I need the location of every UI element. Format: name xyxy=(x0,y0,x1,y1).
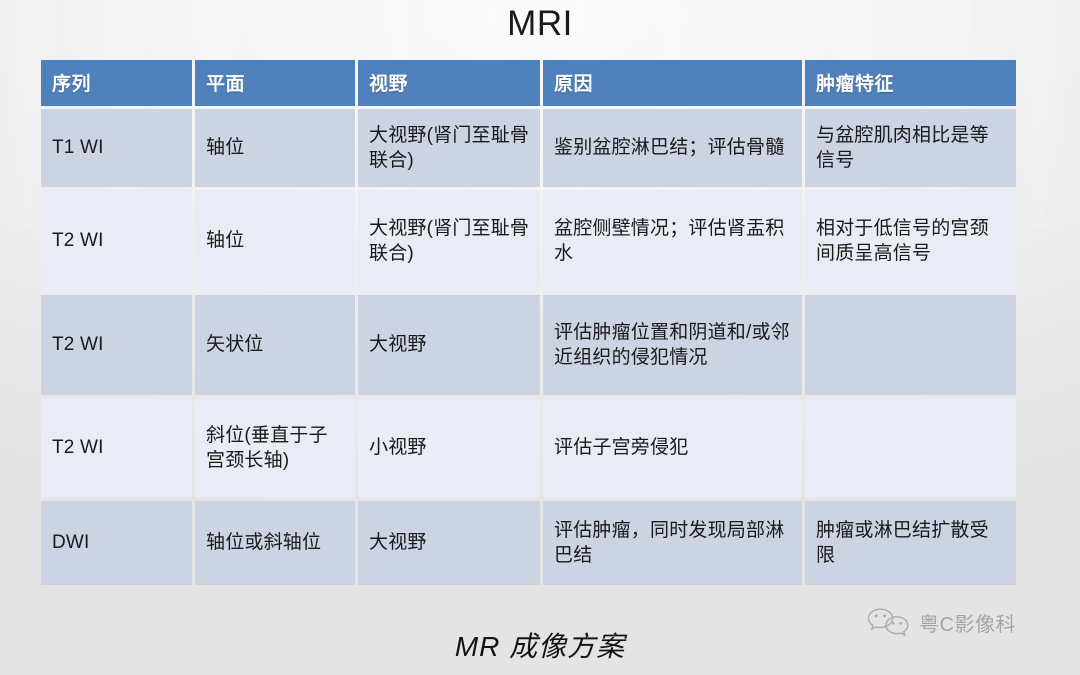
cell-reason: 评估子宫旁侵犯 xyxy=(543,398,802,498)
mri-protocol-table-wrapper: 序列 平面 视野 原因 肿瘤特征 T1 WI 轴位 大视野(肾门至耻骨联合) 鉴… xyxy=(38,57,1013,588)
watermark-label: 粤C影像科 xyxy=(919,608,1016,637)
column-header-plane: 平面 xyxy=(195,60,355,106)
cell-tumor-feature: 与盆腔肌肉相比是等信号 xyxy=(805,109,1016,187)
cell-plane: 斜位(垂直于子宫颈长轴) xyxy=(195,398,355,498)
column-header-reason: 原因 xyxy=(543,60,802,106)
mri-protocol-table: 序列 平面 视野 原因 肿瘤特征 T1 WI 轴位 大视野(肾门至耻骨联合) 鉴… xyxy=(38,57,1019,588)
slide-canvas: MRI 序列 平面 视野 原因 肿瘤特征 T1 WI 轴位 大视野(肾门至耻骨联 xyxy=(0,0,1080,675)
cell-tumor-feature: 相对于低信号的宫颈间质呈高信号 xyxy=(805,190,1016,292)
cell-fov: 大视野 xyxy=(358,501,540,585)
cell-fov: 大视野(肾门至耻骨联合) xyxy=(358,109,540,187)
cell-plane: 轴位 xyxy=(195,109,355,187)
cell-tumor-feature xyxy=(805,295,1016,395)
page-title: MRI xyxy=(0,2,1080,46)
column-header-fov: 视野 xyxy=(358,60,540,106)
cell-sequence: T1 WI xyxy=(41,109,192,187)
table-row: T1 WI 轴位 大视野(肾门至耻骨联合) 鉴别盆腔淋巴结；评估骨髓 与盆腔肌肉… xyxy=(41,109,1016,187)
column-header-sequence: 序列 xyxy=(41,60,192,106)
cell-plane: 矢状位 xyxy=(195,295,355,395)
cell-sequence: DWI xyxy=(41,501,192,585)
cell-tumor-feature xyxy=(805,398,1016,498)
cell-fov: 大视野(肾门至耻骨联合) xyxy=(358,190,540,292)
cell-tumor-feature: 肿瘤或淋巴结扩散受限 xyxy=(805,501,1016,585)
watermark: 粤C影像科 xyxy=(866,607,1016,637)
cell-fov: 小视野 xyxy=(358,398,540,498)
cell-reason: 评估肿瘤位置和阴道和/或邻近组织的侵犯情况 xyxy=(543,295,802,395)
cell-plane: 轴位或斜轴位 xyxy=(195,501,355,585)
cell-plane: 轴位 xyxy=(195,190,355,292)
cell-reason: 鉴别盆腔淋巴结；评估骨髓 xyxy=(543,109,802,187)
table-row: T2 WI 矢状位 大视野 评估肿瘤位置和阴道和/或邻近组织的侵犯情况 xyxy=(41,295,1016,395)
table-header-row: 序列 平面 视野 原因 肿瘤特征 xyxy=(41,60,1016,106)
cell-reason: 评估肿瘤，同时发现局部淋巴结 xyxy=(543,501,802,585)
column-header-tumor: 肿瘤特征 xyxy=(805,60,1016,106)
table-row: T2 WI 轴位 大视野(肾门至耻骨联合) 盆腔侧壁情况；评估肾盂积水 相对于低… xyxy=(41,190,1016,292)
cell-reason: 盆腔侧壁情况；评估肾盂积水 xyxy=(543,190,802,292)
table-row: DWI 轴位或斜轴位 大视野 评估肿瘤，同时发现局部淋巴结 肿瘤或淋巴结扩散受限 xyxy=(41,501,1016,585)
wechat-icon xyxy=(866,607,912,637)
cell-sequence: T2 WI xyxy=(41,398,192,498)
cell-fov: 大视野 xyxy=(358,295,540,395)
cell-sequence: T2 WI xyxy=(41,295,192,395)
table-row: T2 WI 斜位(垂直于子宫颈长轴) 小视野 评估子宫旁侵犯 xyxy=(41,398,1016,498)
cell-sequence: T2 WI xyxy=(41,190,192,292)
